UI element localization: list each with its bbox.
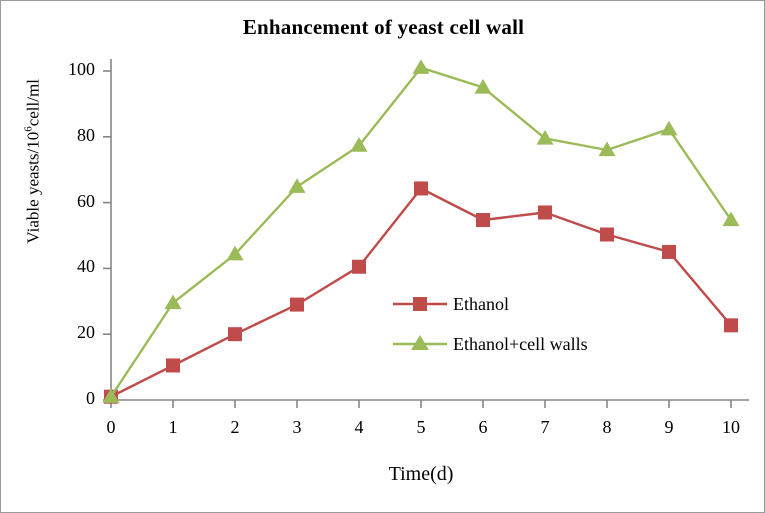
data-point-marker <box>538 205 552 219</box>
x-axis-tick-label: 1 <box>153 417 193 438</box>
data-point-marker <box>600 228 614 242</box>
legend-label: Ethanol <box>453 294 509 315</box>
data-point-marker <box>165 294 182 309</box>
legend-label: Ethanol+cell walls <box>453 334 588 355</box>
data-point-marker <box>476 213 490 227</box>
y-axis-tick-label: 100 <box>49 59 95 80</box>
x-axis-tick-label: 9 <box>649 417 689 438</box>
y-axis-tick-label: 80 <box>49 125 95 146</box>
legend-item-ethanol-cell-walls[interactable]: Ethanol+cell walls <box>391 324 588 364</box>
y-axis-tick-label: 0 <box>49 388 95 409</box>
data-point-marker <box>662 245 676 259</box>
data-point-marker <box>661 121 678 136</box>
data-point-marker <box>290 298 304 312</box>
y-axis-tick-label: 40 <box>49 256 95 277</box>
legend-key-marker <box>411 335 429 350</box>
data-point-marker <box>166 358 180 372</box>
data-point-marker <box>228 327 242 341</box>
x-axis-tick-label: 5 <box>401 417 441 438</box>
x-axis-tick-label: 10 <box>711 417 751 438</box>
x-axis-tick-label: 7 <box>525 417 565 438</box>
chart-legend: EthanolEthanol+cell walls <box>391 284 588 364</box>
y-axis-tick-label: 20 <box>49 322 95 343</box>
chart-container: Enhancement of yeast cell wall Viable ye… <box>0 0 765 513</box>
data-point-marker <box>352 260 366 274</box>
x-axis-tick-label: 6 <box>463 417 503 438</box>
legend-square-marker-icon <box>391 293 449 315</box>
data-point-marker <box>723 212 740 227</box>
data-point-marker <box>414 181 428 195</box>
x-axis-tick-label: 3 <box>277 417 317 438</box>
legend-item-ethanol[interactable]: Ethanol <box>391 284 588 324</box>
legend-key-graphic <box>391 293 449 315</box>
data-point-marker <box>413 59 430 74</box>
x-axis-tick-label: 8 <box>587 417 627 438</box>
data-point-marker <box>724 318 738 332</box>
legend-key-marker <box>413 297 427 311</box>
data-point-marker <box>289 178 306 193</box>
x-axis-tick-label: 4 <box>339 417 379 438</box>
legend-key-graphic <box>391 333 449 355</box>
y-axis-tick-label: 60 <box>49 191 95 212</box>
legend-triangle-marker-icon <box>391 333 449 355</box>
x-axis-tick-label: 0 <box>91 417 131 438</box>
x-axis-tick-label: 2 <box>215 417 255 438</box>
